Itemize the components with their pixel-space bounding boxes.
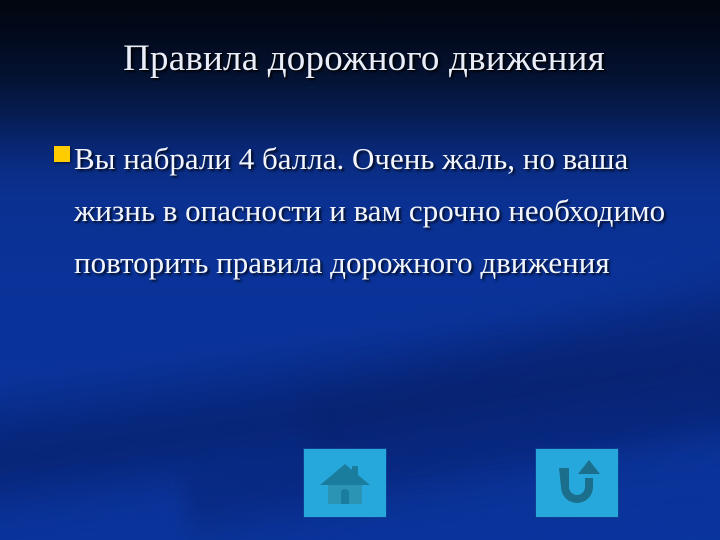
slide-title: Правила дорожного движения xyxy=(44,36,684,82)
back-button[interactable] xyxy=(535,448,619,518)
slide-body: Вы набрали 4 балла. Очень жаль, но ваша … xyxy=(54,133,680,289)
home-button[interactable] xyxy=(303,448,387,518)
bullet-item-text: Вы набрали 4 балла. Очень жаль, но ваша … xyxy=(74,133,680,289)
u-turn-arrow-icon xyxy=(552,458,602,508)
square-bullet-icon xyxy=(54,146,70,162)
presentation-slide: Правила дорожного движения Вы набрали 4 … xyxy=(0,0,720,540)
background-swoosh-band xyxy=(177,327,720,540)
home-icon xyxy=(319,460,371,506)
bullet-list-item: Вы набрали 4 балла. Очень жаль, но ваша … xyxy=(54,133,680,289)
